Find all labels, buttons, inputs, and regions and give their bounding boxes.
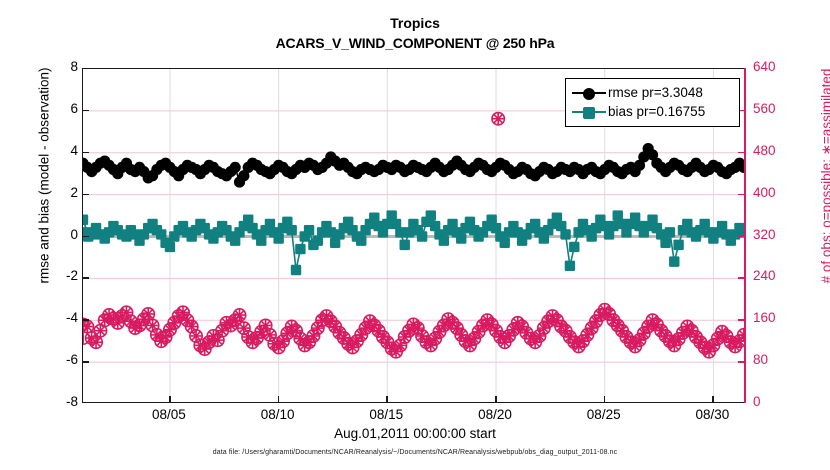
title-line-2: ACARS_V_WIND_COMPONENT @ 250 hPa <box>0 34 830 52</box>
y-tick-label-left: 2 <box>38 185 78 200</box>
legend-marker-bias-icon <box>572 104 606 120</box>
y-tick-label-right: 480 <box>753 143 799 158</box>
x-tick-label: 08/10 <box>243 407 313 422</box>
y-tick-label-left: 4 <box>38 143 78 158</box>
x-tick-mark <box>495 396 497 403</box>
y-tick-label-right: 240 <box>753 268 799 283</box>
y-tick-label-left: -8 <box>38 394 78 409</box>
y-tick-mark-left <box>82 319 89 321</box>
x-tick-mark <box>712 396 714 403</box>
y-tick-label-left: -6 <box>38 352 78 367</box>
chart-legend: rmse pr=3.3048 bias pr=0.16755 <box>565 78 740 127</box>
y-tick-mark-right <box>738 194 745 196</box>
y-tick-mark-left <box>82 194 89 196</box>
x-axis-label: Aug.01,2011 00:00:00 start <box>0 426 830 441</box>
y-tick-mark-right <box>738 319 745 321</box>
x-tick-mark <box>604 396 606 403</box>
x-tick-mark <box>278 396 280 403</box>
y-tick-label-right: 80 <box>753 352 799 367</box>
y-tick-label-right: 560 <box>753 101 799 116</box>
y-tick-mark-right <box>738 277 745 279</box>
y-tick-mark-right <box>738 236 745 238</box>
y-tick-label-left: 0 <box>38 227 78 242</box>
y-tick-mark-right <box>738 152 745 154</box>
legend-item-rmse: rmse pr=3.3048 <box>572 83 733 102</box>
x-tick-label: 08/30 <box>677 407 747 422</box>
x-tick-label: 08/25 <box>569 407 639 422</box>
data-file-footer: data file: /Users/gharamti/Documents/NCA… <box>0 449 830 456</box>
x-tick-label: 08/15 <box>351 407 421 422</box>
y-tick-mark-left <box>82 277 89 279</box>
x-tick-mark <box>169 396 171 403</box>
y-tick-label-left: -4 <box>38 310 78 325</box>
y-tick-label-right: 0 <box>753 394 799 409</box>
y-tick-label-right: 160 <box>753 310 799 325</box>
y-tick-label-right: 400 <box>753 185 799 200</box>
y-tick-label-left: -2 <box>38 268 78 283</box>
y-tick-label-right: 640 <box>753 59 799 74</box>
x-tick-label: 08/05 <box>134 407 204 422</box>
y-tick-label-left: 6 <box>38 101 78 116</box>
x-tick-mark <box>386 396 388 403</box>
legend-label-rmse: rmse pr=3.3048 <box>606 85 703 100</box>
y-tick-mark-right <box>738 361 745 363</box>
y-tick-mark-left <box>82 152 89 154</box>
y-tick-mark-left <box>82 361 89 363</box>
y-tick-mark-left <box>82 110 89 112</box>
x-tick-label: 08/20 <box>460 407 530 422</box>
y-axis-label-right: # of obs: o=possible; ∗=assimilated <box>819 11 830 341</box>
chart-root: Tropics ACARS_V_WIND_COMPONENT @ 250 hPa… <box>0 0 830 470</box>
chart-title: Tropics ACARS_V_WIND_COMPONENT @ 250 hPa <box>0 14 830 52</box>
y-tick-mark-left <box>82 236 89 238</box>
legend-marker-rmse-icon <box>572 85 606 101</box>
legend-item-bias: bias pr=0.16755 <box>572 102 733 121</box>
y-tick-label-left: 8 <box>38 59 78 74</box>
title-line-1: Tropics <box>0 14 830 32</box>
y-tick-label-right: 320 <box>753 227 799 242</box>
legend-label-bias: bias pr=0.16755 <box>606 104 705 119</box>
